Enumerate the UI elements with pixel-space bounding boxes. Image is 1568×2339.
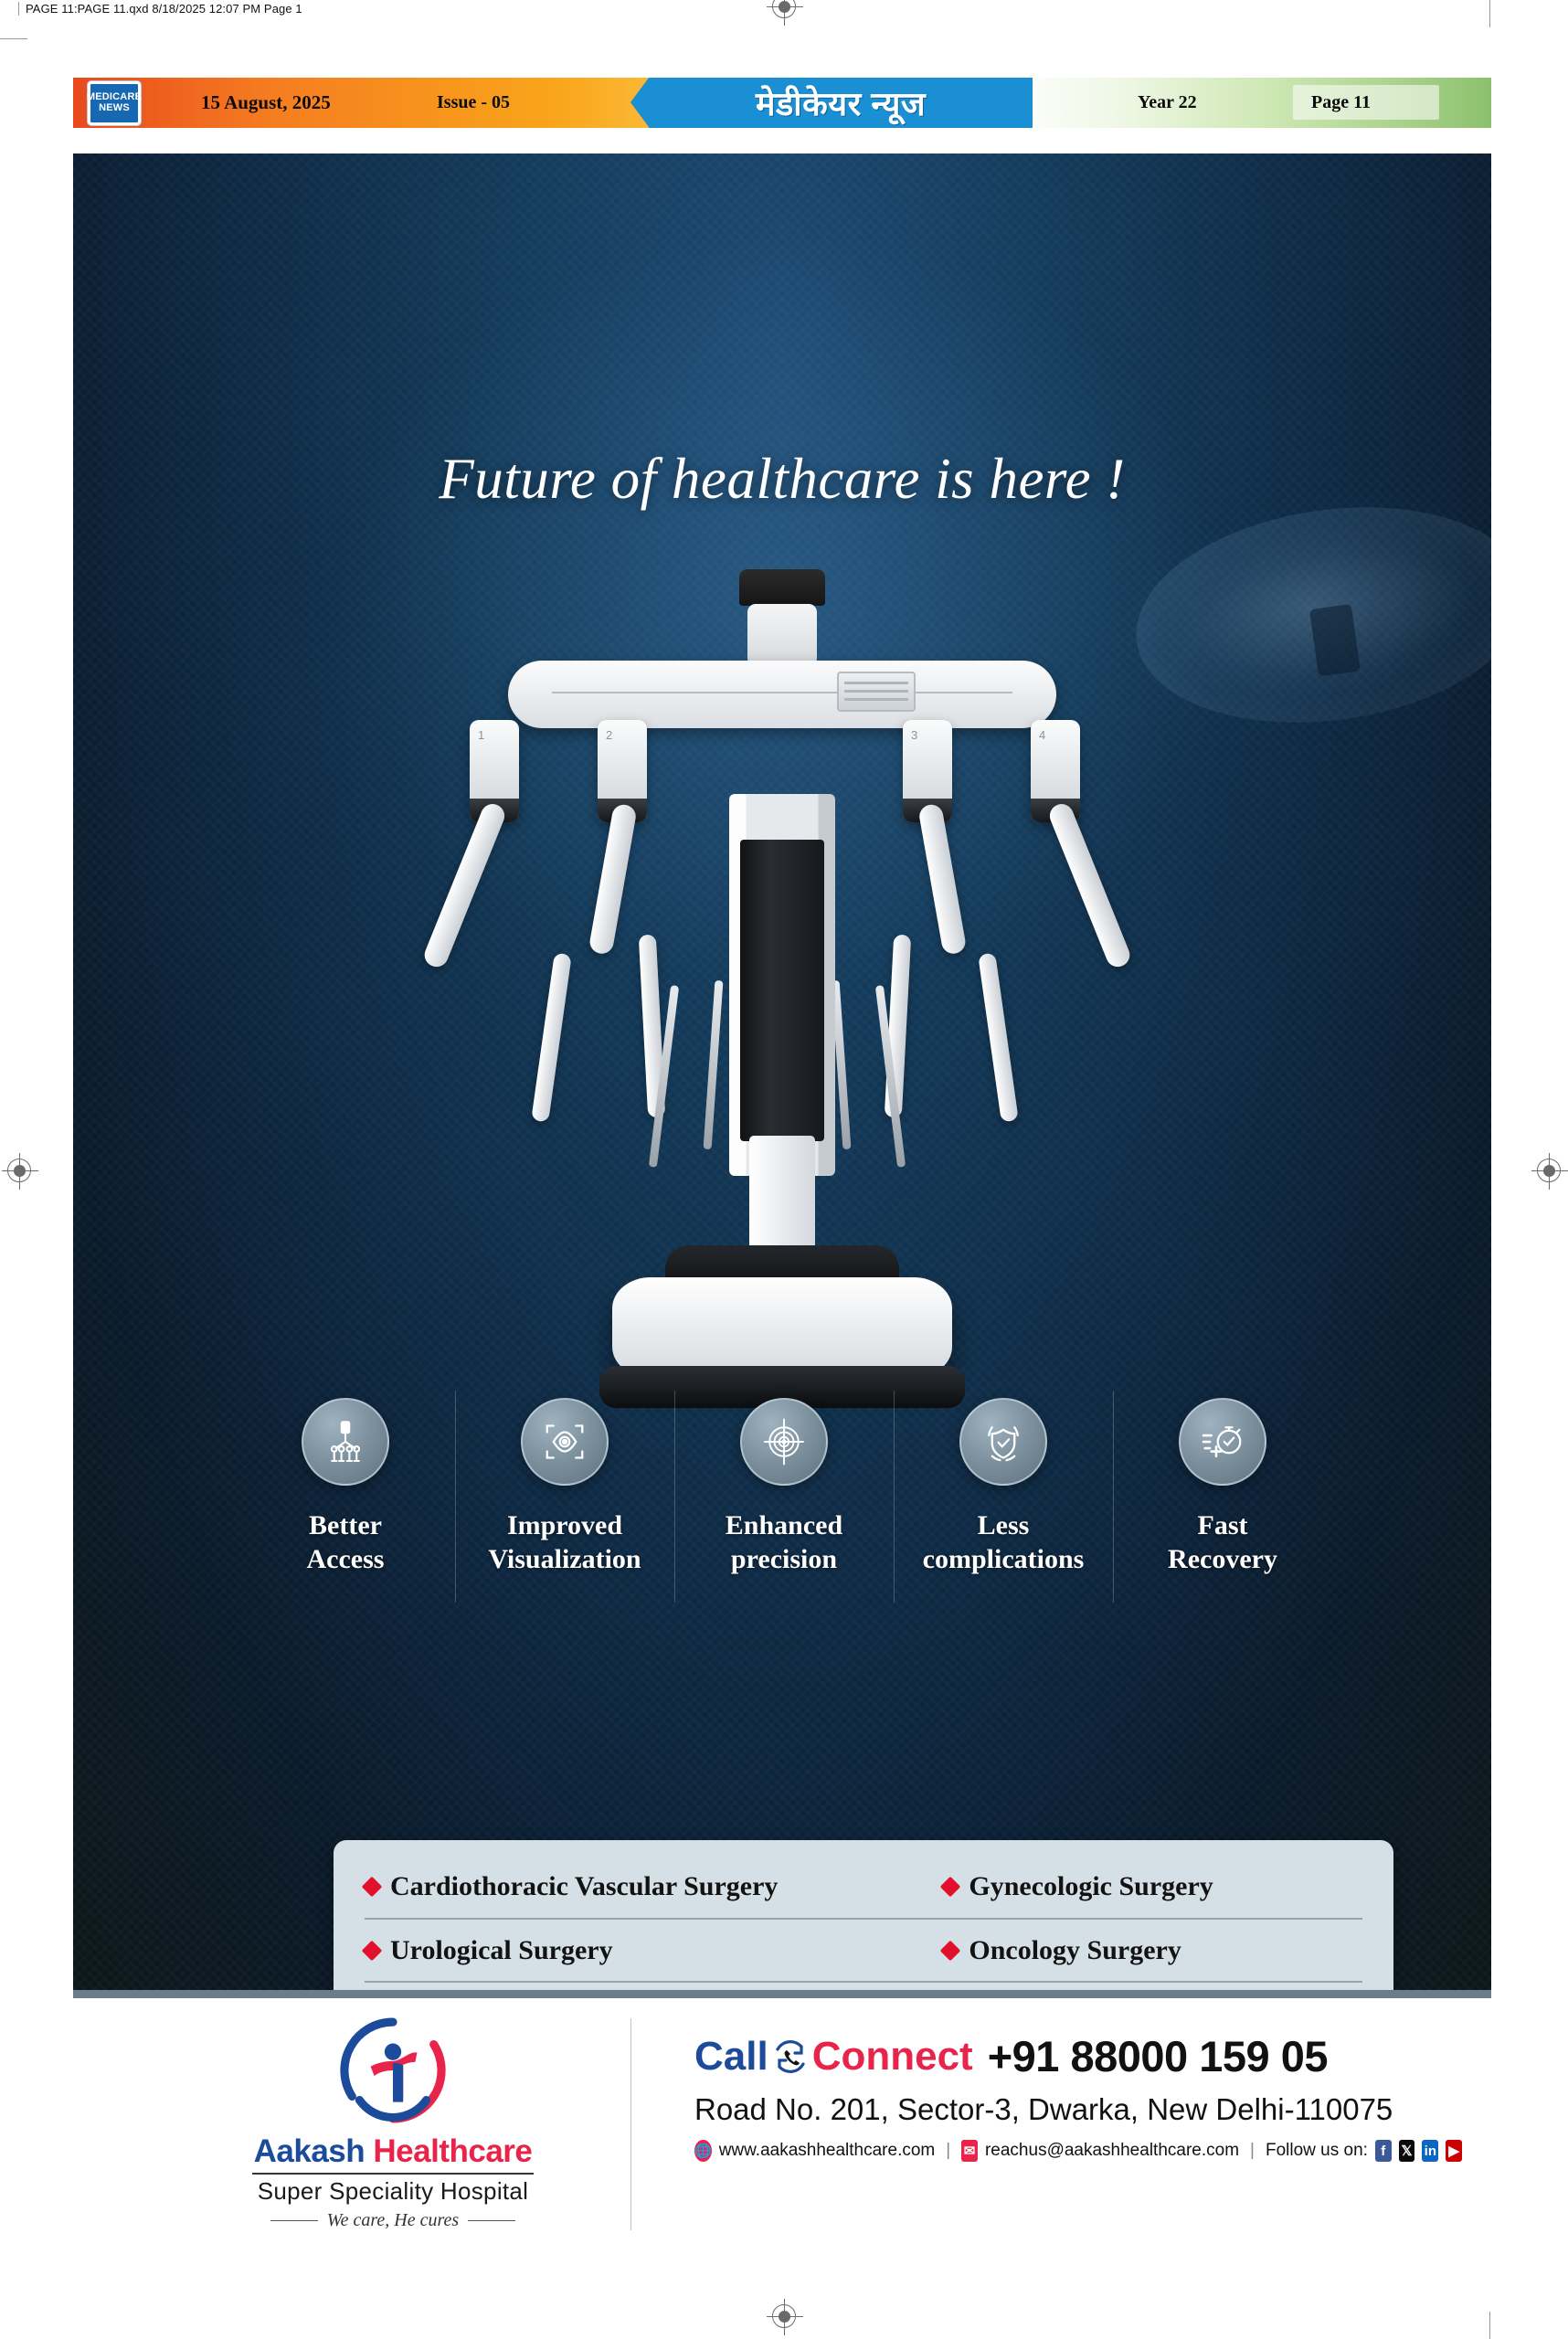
youtube-icon[interactable]: ▶	[1446, 2140, 1462, 2162]
masthead-issue: Issue - 05	[437, 78, 510, 128]
newspaper-page: PAGE 11:PAGE 11.qxd 8/18/2025 12:07 PM P…	[0, 0, 1568, 2339]
feature-label-line1: Enhanced	[726, 1509, 842, 1543]
feature-enhanced-precision: Enhanced precision	[674, 1398, 894, 1613]
website-url[interactable]: www.aakashhealthcare.com	[719, 2141, 936, 2161]
target-icon	[740, 1398, 828, 1486]
stopwatch-plus-icon	[1179, 1398, 1266, 1486]
hospital-logo-block: Aakash Healthcare Super Speciality Hospi…	[238, 2015, 548, 2231]
robot-arm-upper-2	[588, 803, 638, 956]
logo-line-2: NEWS	[99, 103, 130, 114]
phone-rotate-icon	[770, 2037, 810, 2077]
contact-links-row: 🌐 www.aakashhealthcare.com | ✉ reachus@a…	[694, 2140, 1462, 2162]
diamond-bullet-icon	[362, 1876, 383, 1897]
advertisement-panel: Future of healthcare is here ! 1 2 3 4	[73, 153, 1491, 1990]
robot-arm-upper-1	[421, 800, 508, 970]
medicare-news-logo: MEDICARE NEWS	[88, 81, 141, 125]
services-row: Abdominal & Gastrointestinal Surgery Org…	[365, 1981, 1362, 1990]
masthead-title-text: मेडीकेयर न्यूज	[756, 80, 926, 125]
masthead-date: 15 August, 2025	[201, 78, 331, 128]
feature-better-access: Better Access	[236, 1398, 455, 1613]
hospital-name: Aakash Healthcare	[238, 2133, 548, 2170]
masthead-title-banner: मेडीकेयर न्यूज	[649, 78, 1033, 128]
arm-label-4: 4	[1039, 728, 1045, 742]
contact-block: Call Connect +91 88000 159 05 Road No. 2…	[694, 2031, 1462, 2162]
feature-label-line1: Less	[923, 1509, 1085, 1543]
call-connect-row: Call Connect +91 88000 159 05	[694, 2031, 1462, 2081]
hospital-subtitle: Super Speciality Hospital	[238, 2177, 548, 2206]
registration-mark-right	[1537, 1159, 1561, 1182]
service-label: Oncology Surgery	[969, 1935, 1181, 1966]
call-label: Call	[694, 2034, 768, 2080]
feature-less-complications: Less complications	[894, 1398, 1113, 1613]
services-row: Urological Surgery Oncology Surgery	[365, 1918, 1362, 1981]
robot-base	[612, 1277, 952, 1378]
registration-mark-bottom	[772, 2304, 796, 2328]
globe-icon: 🌐	[694, 2140, 712, 2162]
feature-label-line2: Access	[307, 1543, 385, 1577]
robot-control-screen	[837, 672, 916, 712]
ad-headline: Future of healthcare is here !	[73, 446, 1491, 513]
advertiser-footer: Aakash Healthcare Super Speciality Hospi…	[73, 1990, 1491, 2253]
feature-label-line2: Visualization	[488, 1543, 641, 1577]
robot-arm-upper-3	[917, 803, 967, 956]
email-address[interactable]: reachus@aakashhealthcare.com	[985, 2141, 1239, 2161]
print-slug: PAGE 11:PAGE 11.qxd 8/18/2025 12:07 PM P…	[18, 2, 302, 16]
robot-column-panel	[740, 840, 824, 1141]
hospital-tagline-row: We care, He cures	[238, 2210, 548, 2231]
robot-arm-lower-1	[531, 953, 572, 1123]
crop-mark-top	[1489, 0, 1490, 27]
arm-label-3: 3	[911, 728, 917, 742]
facebook-icon[interactable]: f	[1375, 2140, 1392, 2162]
diamond-bullet-icon	[940, 1940, 961, 1961]
feature-label-line2: precision	[726, 1543, 842, 1577]
linkedin-icon[interactable]: in	[1422, 2140, 1438, 2162]
footer-divider	[630, 2018, 631, 2230]
masthead: MEDICARE NEWS 15 August, 2025 Issue - 05…	[73, 78, 1491, 128]
follow-us-label: Follow us on:	[1266, 2141, 1368, 2161]
aakash-healthcare-logo-icon	[337, 2015, 449, 2126]
logo-divider	[252, 2173, 534, 2175]
service-label: Gynecologic Surgery	[969, 1871, 1213, 1902]
feature-label-line1: Better	[307, 1509, 385, 1543]
surgical-robot-illustration: 1 2 3 4	[435, 569, 1129, 1424]
services-row: Cardiothoracic Vascular Surgery Gynecolo…	[365, 1855, 1362, 1918]
arm-label-1: 1	[478, 728, 484, 742]
diamond-bullet-icon	[940, 1876, 961, 1897]
services-panel: Cardiothoracic Vascular Surgery Gynecolo…	[334, 1840, 1393, 1990]
service-item: Cardiothoracic Vascular Surgery	[365, 1871, 943, 1902]
robot-arm-lower-4	[978, 953, 1019, 1123]
feature-list: Better Access Improved Visualization	[236, 1398, 1332, 1613]
hospital-name-part2: Healthcare	[373, 2133, 532, 2169]
arm-label-2: 2	[606, 728, 612, 742]
robot-top-cap	[739, 569, 825, 606]
feature-label-line2: Recovery	[1168, 1543, 1277, 1577]
masthead-page-number: Page 11	[1311, 78, 1371, 128]
diamond-bullet-icon	[362, 1940, 383, 1961]
feature-label-line1: Improved	[488, 1509, 641, 1543]
hospital-name-part1: Aakash	[254, 2133, 366, 2169]
service-label: Urological Surgery	[390, 1935, 613, 1966]
shield-check-icon	[959, 1398, 1047, 1486]
robot-overhead-boom	[508, 661, 1056, 728]
hospital-address: Road No. 201, Sector-3, Dwarka, New Delh…	[694, 2092, 1462, 2127]
feature-label-line2: complications	[923, 1543, 1085, 1577]
registration-mark-top	[772, 0, 796, 18]
eye-focus-icon	[521, 1398, 609, 1486]
feature-fast-recovery: Fast Recovery	[1113, 1398, 1332, 1613]
registration-mark-left	[7, 1159, 31, 1182]
feature-label-line1: Fast	[1168, 1509, 1277, 1543]
crop-mark-bottom	[1489, 2312, 1490, 2339]
service-item: Gynecologic Surgery	[943, 1871, 1362, 1902]
phone-number[interactable]: +91 88000 159 05	[988, 2031, 1328, 2081]
crop-mark-left	[0, 38, 27, 39]
robot-arm-upper-4	[1046, 800, 1133, 970]
feature-improved-visualization: Improved Visualization	[455, 1398, 674, 1613]
service-item: Oncology Surgery	[943, 1935, 1362, 1966]
connect-label: Connect	[812, 2034, 973, 2080]
masthead-year: Year 22	[1138, 78, 1197, 128]
robotic-arm-icon	[302, 1398, 389, 1486]
service-label: Cardiothoracic Vascular Surgery	[390, 1871, 778, 1902]
envelope-icon: ✉	[961, 2140, 978, 2162]
x-twitter-icon[interactable]: 𝕏	[1399, 2140, 1415, 2162]
robot-neck	[747, 604, 817, 666]
hospital-tagline: We care, He cures	[327, 2210, 459, 2231]
service-item: Urological Surgery	[365, 1935, 943, 1966]
robot-instrument-2	[704, 980, 724, 1149]
